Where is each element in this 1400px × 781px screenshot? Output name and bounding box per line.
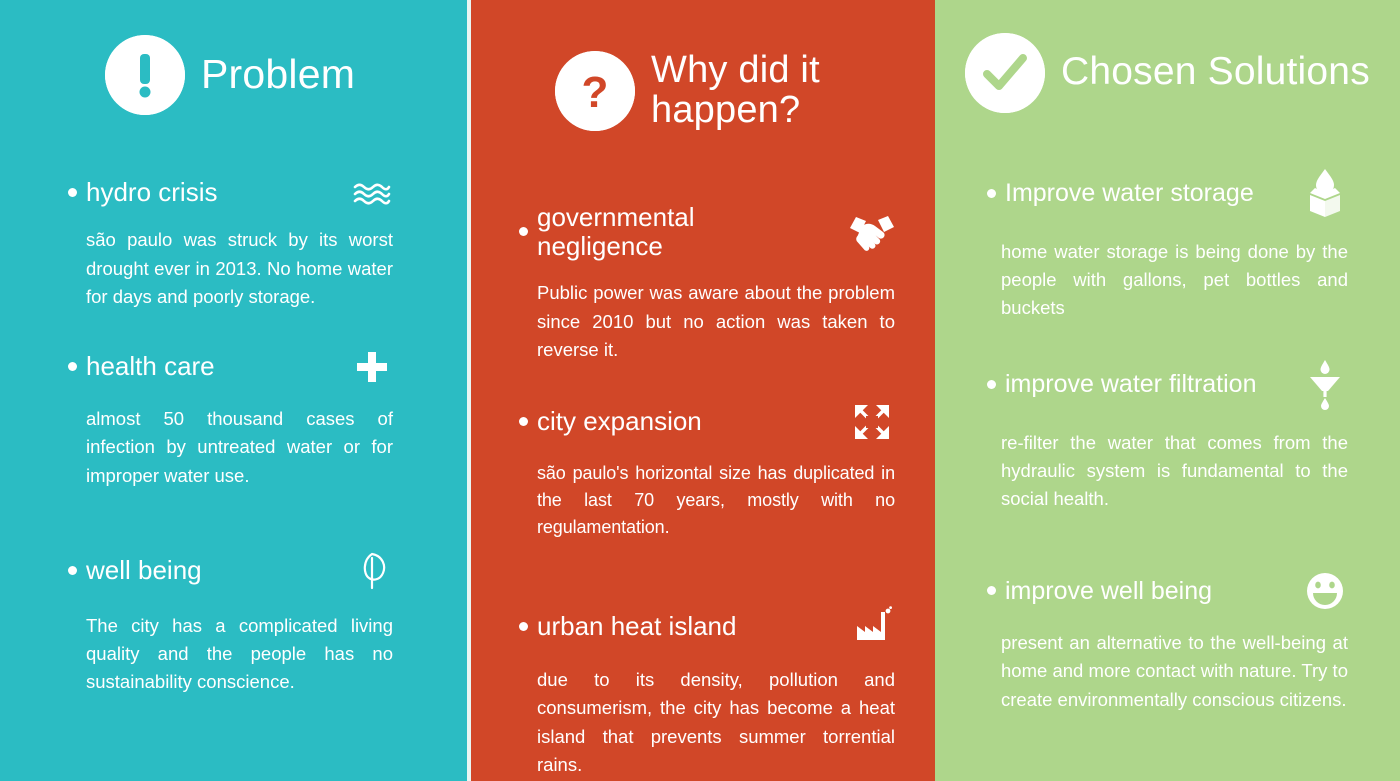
item-header: improve well being [987, 571, 1348, 611]
bullet-icon [987, 189, 996, 198]
bullet-icon [519, 622, 528, 631]
bullet-icon [68, 566, 77, 575]
item-body: almost 50 thousand cases of infection by… [68, 405, 395, 489]
waves-icon [349, 178, 395, 208]
item-header: well being [68, 548, 395, 594]
list-item: hydro crisis são paulo was struck by its… [68, 178, 395, 311]
item-header: urban heat island [519, 606, 895, 648]
item-body: Public power was aware about the problem… [519, 279, 895, 363]
smiley-face-icon [1302, 571, 1348, 611]
item-header: governmental negligence [519, 203, 895, 261]
infographic-board: Problem hydro crisis [0, 0, 1400, 781]
expand-arrows-icon [849, 402, 895, 442]
bullet-icon [519, 227, 528, 236]
list-item: improve well being present an alternativ… [987, 571, 1348, 714]
item-title: well being [86, 556, 202, 585]
page-title-problem: Problem [201, 53, 355, 96]
item-title: city expansion [537, 407, 702, 436]
svg-text:?: ? [582, 68, 609, 117]
page-title-why: Why did it happen? [651, 51, 820, 131]
bullet-icon [68, 188, 77, 197]
item-header: city expansion [519, 402, 895, 442]
item-body: due to its density, pollution and consum… [519, 666, 895, 778]
item-body: The city has a complicated living qualit… [68, 612, 395, 696]
factory-icon [849, 606, 895, 648]
list-item: well being The city has a complicated li… [68, 548, 395, 697]
exclamation-circle-icon [105, 35, 185, 115]
item-body: são paulo's horizontal size has duplicat… [519, 460, 895, 542]
list-item: improve water filtration re-filter th [987, 358, 1348, 513]
item-body: são paulo was struck by its worst drough… [68, 226, 395, 310]
item-body: home water storage is being done by the … [987, 238, 1348, 322]
item-header: Improve water storage [987, 167, 1348, 219]
problem-items: hydro crisis são paulo was struck by its… [0, 178, 467, 696]
item-body: present an alternative to the well-being… [987, 629, 1348, 713]
medical-cross-icon [349, 347, 395, 387]
question-circle-icon: ? [555, 51, 635, 131]
column-chosen-solutions: Chosen Solutions Improve water storage [935, 0, 1400, 781]
item-header: hydro crisis [68, 178, 395, 208]
solutions-items: Improve water storage [935, 167, 1400, 713]
bullet-icon [68, 362, 77, 371]
list-item: governmental negligence Public power was… [519, 203, 895, 364]
item-title: hydro crisis [86, 178, 217, 207]
item-header: improve water filtration [987, 358, 1348, 410]
item-title: improve water filtration [1005, 370, 1256, 398]
list-item: health care almost 50 thousand cases of … [68, 347, 395, 490]
solutions-header: Chosen Solutions [935, 0, 1400, 119]
column-problem: Problem hydro crisis [0, 0, 467, 781]
item-title: improve well being [1005, 577, 1212, 605]
item-title: Improve water storage [1005, 179, 1254, 207]
item-body: re-filter the water that comes from the … [987, 429, 1348, 513]
item-title: governmental negligence [537, 203, 695, 261]
leaf-icon [349, 548, 395, 594]
funnel-filter-icon [1302, 358, 1348, 410]
check-circle-icon [965, 33, 1045, 113]
item-title: urban heat island [537, 612, 736, 641]
bullet-icon [987, 380, 996, 389]
list-item: city expansion [519, 402, 895, 542]
why-items: governmental negligence Public power was… [471, 203, 935, 779]
bullet-icon [519, 417, 528, 426]
list-item: urban heat island due to its density, po… [519, 606, 895, 779]
list-item: Improve water storage [987, 167, 1348, 322]
handshake-icon [849, 212, 895, 252]
problem-header: Problem [0, 0, 467, 124]
bullet-icon [987, 586, 996, 595]
item-title: health care [86, 352, 215, 381]
why-header: ? Why did it happen? [471, 0, 935, 157]
water-storage-box-icon [1302, 167, 1348, 219]
item-header: health care [68, 347, 395, 387]
column-why-did-it-happen: ? Why did it happen? governmental neglig… [471, 0, 935, 781]
page-title-solutions: Chosen Solutions [1061, 52, 1370, 93]
